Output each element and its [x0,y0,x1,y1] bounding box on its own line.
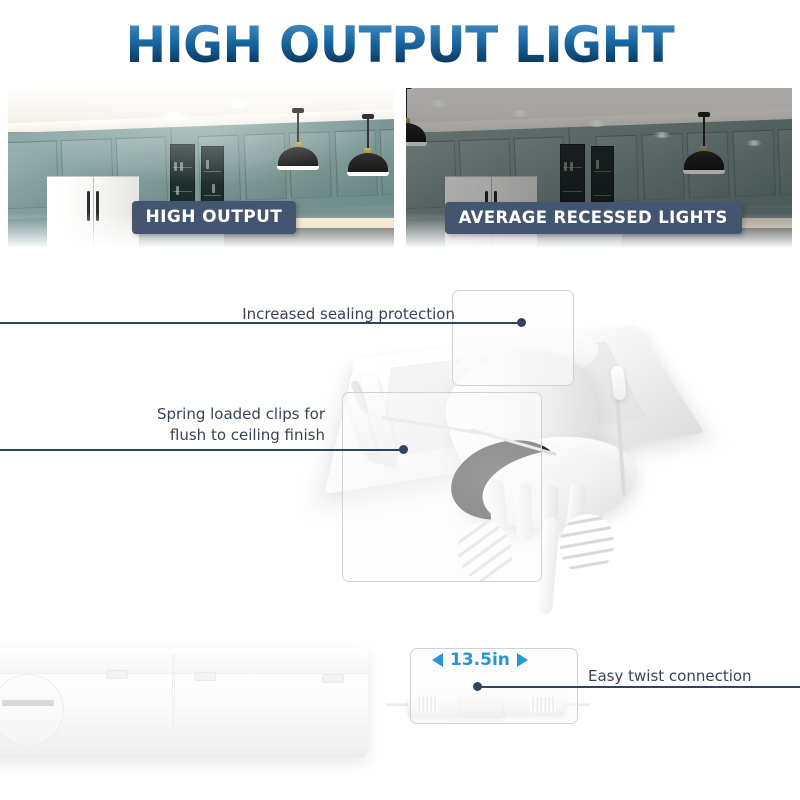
lead-line-clips [0,449,402,451]
callout-box-clips [342,392,542,582]
comparison-photos: HIGH OUTPUT [8,88,792,248]
callout-label-twist: Easy twist connection [588,666,798,687]
driver-connection-section: Easy twist connection [0,618,800,800]
callout-label-clips: Spring loaded clips for flush to ceiling… [90,404,325,447]
page-title: HIGH OUTPUT LIGHT [126,20,675,70]
recessed-light-spot [746,140,762,146]
photo-high-output: HIGH OUTPUT [8,88,394,248]
lead-dot-sealing [517,318,526,327]
photo-badge-average-recessed: AVERAGE RECESSED LIGHTS [445,202,742,234]
photo-badge-high-output: HIGH OUTPUT [132,201,297,234]
recessed-light-spot [653,132,671,138]
left-arrow-icon [432,653,443,667]
dimension-label: 13.5in [432,650,528,670]
product-feature-section: Increased sealing protection Spring load… [0,262,800,622]
lead-dot-twist [473,682,482,691]
junction-box [0,648,368,758]
callout-label-sealing: Increased sealing protection [180,304,455,325]
photo-average-recessed: AVERAGE RECESSED LIGHTS [406,88,792,248]
lead-dot-clips [399,445,408,454]
infographic-page: HIGH OUTPUT LIGHT [0,0,800,800]
recessed-light-spot [429,100,447,107]
right-arrow-icon [517,653,528,667]
callout-box-sealing [452,290,574,386]
dimension-value: 13.5in [450,650,510,670]
title-banner: HIGH OUTPUT LIGHT [0,10,800,80]
